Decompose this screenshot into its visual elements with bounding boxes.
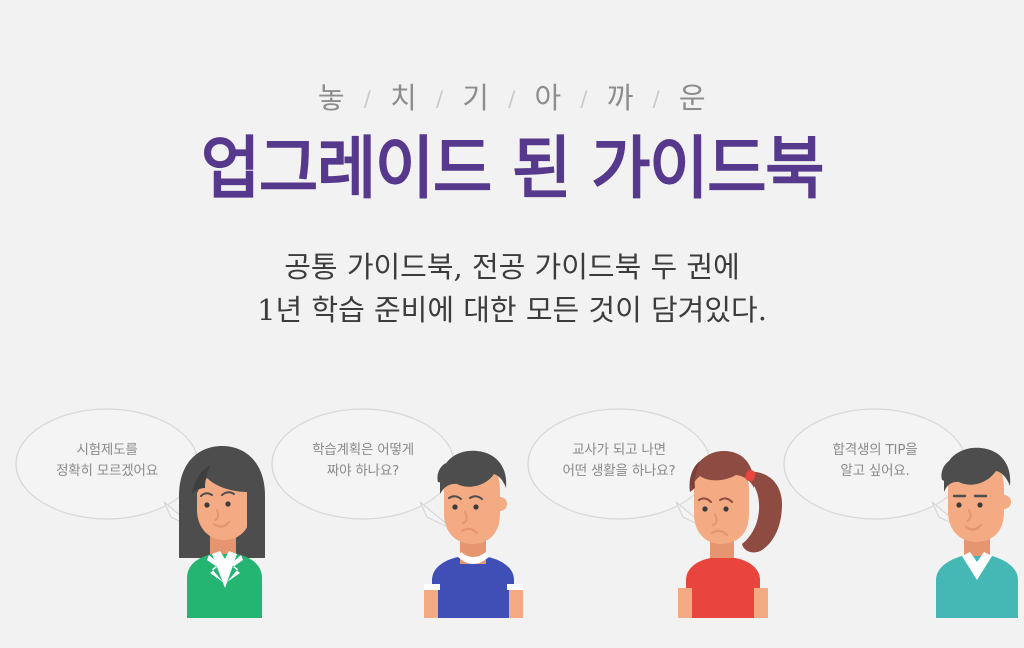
kicker-char-1: 놓 <box>318 81 345 115</box>
kicker-char-5: 까 <box>607 81 634 115</box>
subtitle-line-2: 1년 학습 준비에 대한 모든 것이 담겨있다. <box>0 289 1024 332</box>
persona-item-3: 교사가 되고 나면 어떤 생활을 하나요? <box>512 398 768 648</box>
persona-row: 시험제도를 정확히 모르겠어요 <box>0 398 1024 648</box>
kicker-char-6: 운 <box>679 81 706 115</box>
kicker-separator-2: / <box>436 87 444 111</box>
kicker-separator-5: / <box>653 87 661 111</box>
kicker-char-4: 아 <box>535 81 562 115</box>
persona-item-2: 학습계획은 어떻게 짜야 하나요? <box>256 398 512 648</box>
page-title: 업그레이드 된 가이드북 <box>26 131 999 209</box>
kicker-char-2: 치 <box>390 81 417 115</box>
subtitle-line-1: 공통 가이드북, 전공 가이드북 두 권에 <box>0 246 1024 289</box>
kicker-separator-1: / <box>364 87 372 111</box>
persona-item-4: 합격생의 TIP을 알고 싶어요. <box>768 398 1024 648</box>
persona-item-1: 시험제도를 정확히 모르겠어요 <box>0 398 256 648</box>
avatar-man-teal-polo <box>918 438 1024 568</box>
kicker-separator-4: / <box>580 87 588 111</box>
kicker-char-3: 기 <box>462 81 489 115</box>
subtitle: 공통 가이드북, 전공 가이드북 두 권에 1년 학습 준비에 대한 모든 것이… <box>0 246 1024 332</box>
kicker-line: 놓 / 치 / 기 / 아 / 까 / 운 <box>0 78 1024 121</box>
promo-banner: 놓 / 치 / 기 / 아 / 까 / 운 업그레이드 된 가이드북 공통 가이… <box>0 0 1024 648</box>
avatar-woman-ponytail <box>662 438 782 568</box>
kicker-separator-3: / <box>508 87 516 111</box>
